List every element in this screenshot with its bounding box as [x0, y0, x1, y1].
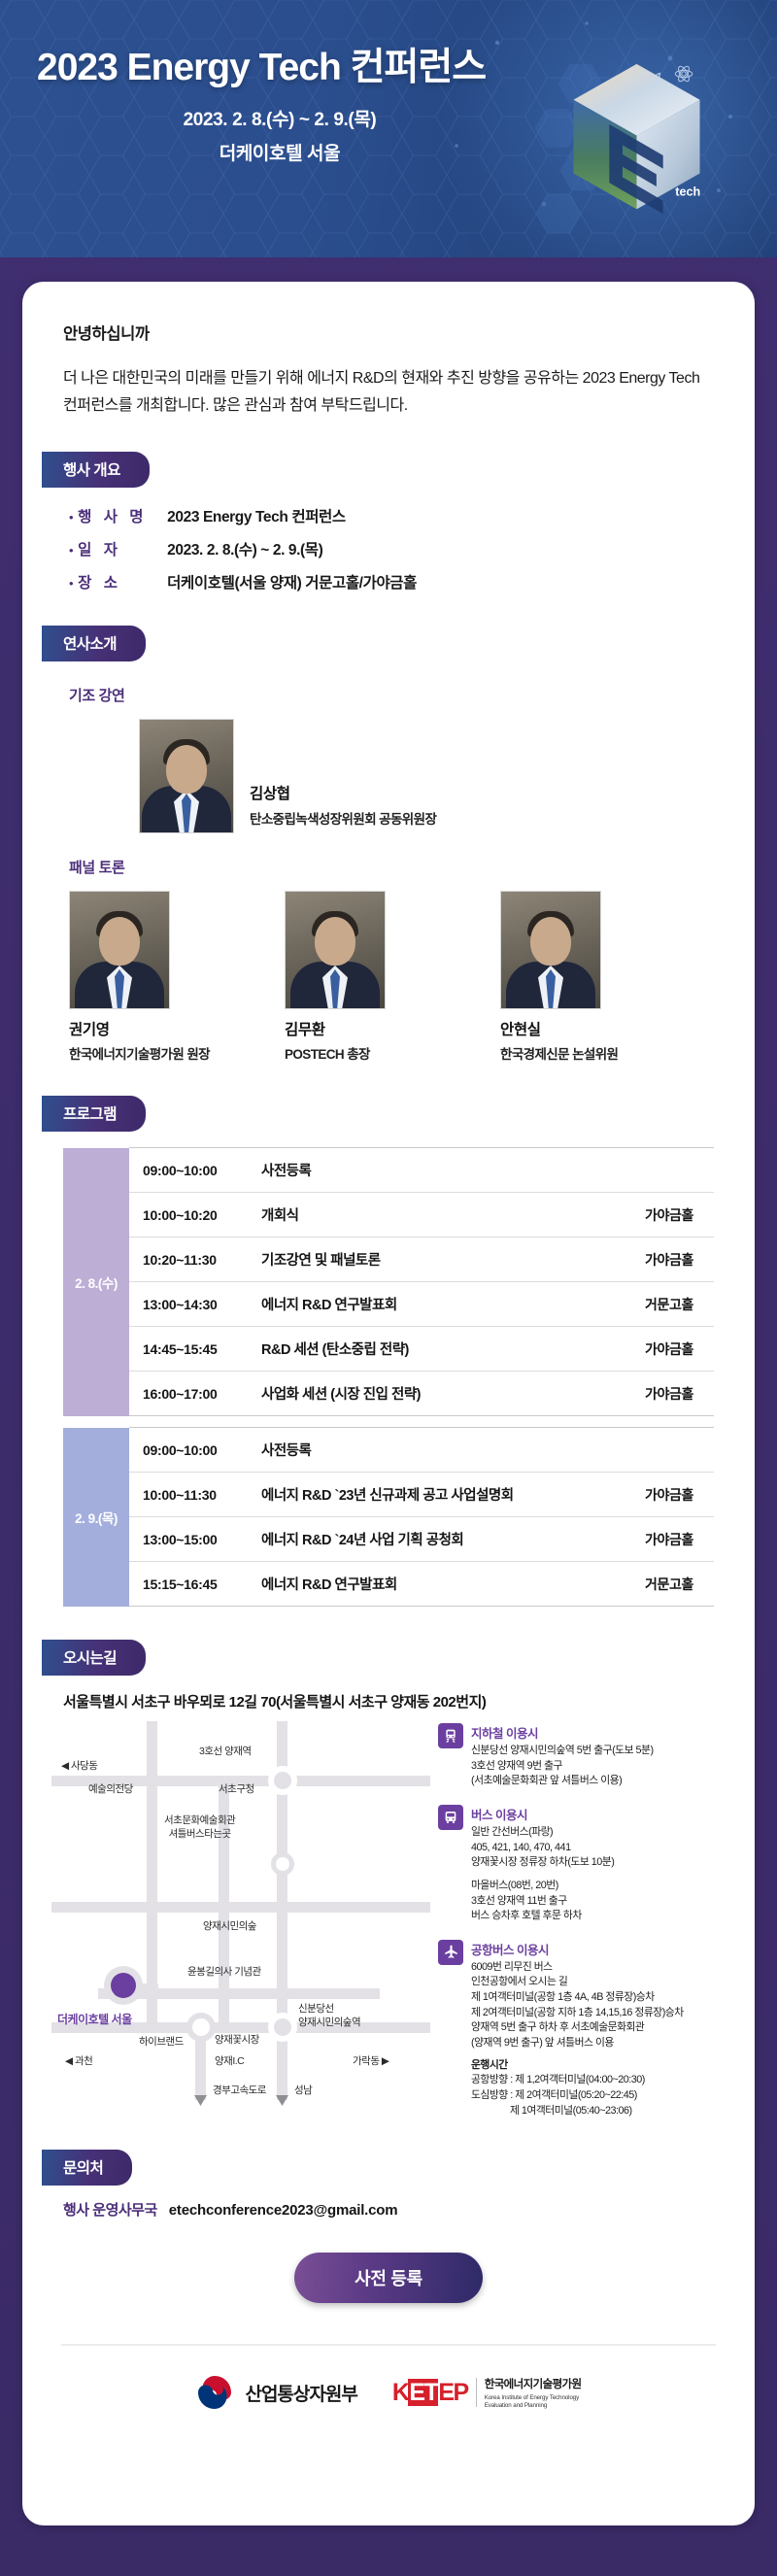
section-heading-program: 프로그램: [42, 1096, 146, 1132]
program-hall: 가야금홀: [625, 1193, 714, 1237]
bullet-icon: •: [69, 511, 73, 524]
program-title: 에너지 R&D `23년 신규과제 공고 사업설명회: [253, 1473, 625, 1517]
list-item: 권기영 한국에너지기술평가원 원장: [69, 891, 285, 1063]
program-hall: 가야금홀: [625, 1473, 714, 1517]
program-hall: 가야금홀: [625, 1517, 714, 1562]
register-section: 사전 등록: [22, 2253, 755, 2303]
section-heading-contact: 문의처: [42, 2150, 132, 2186]
intro-body: 더 나은 대한민국의 미래를 만들기 위해 에너지 R&D의 현재와 추진 방향…: [63, 365, 714, 419]
program-time: 09:00~10:00: [129, 1148, 253, 1193]
transit-line: 3호선 양재역 9번 출구: [471, 1759, 654, 1775]
table-row: 16:00~17:00 사업화 세션 (시장 진입 전략) 가야금홀: [63, 1372, 714, 1416]
transit-line: 버스 승차후 호텔 후문 하차: [471, 1909, 614, 1924]
program-time: 10:00~11:30: [129, 1473, 253, 1517]
speaker-role: POSTECH 총장: [285, 1043, 500, 1063]
transit-title: 공항버스 이용시: [471, 1940, 684, 1958]
overview-label: 장 소: [78, 571, 167, 593]
header-dates: 2023. 2. 8.(수) ~ 2. 9.(목): [37, 105, 523, 131]
program-day-label: 2. 9.(목): [63, 1428, 129, 1607]
transit-info: 지하철 이용시 신분당선 양재시민의숲역 5번 출구(도보 5분) 3호선 양재…: [438, 1721, 722, 2134]
table-row: 2. 8.(수) 09:00~10:00 사전등록: [63, 1148, 714, 1193]
transit-line: 양재꽃시장 정류장 하차(도보 10분): [471, 1855, 614, 1871]
map-node-yangjae-station: [268, 1766, 297, 1795]
program-hall: 가야금홀: [625, 1327, 714, 1372]
program-hall: [625, 1428, 714, 1473]
motie-logo: 산업통상자원부: [195, 2373, 356, 2412]
pre-register-button[interactable]: 사전 등록: [294, 2253, 483, 2303]
venue-address: 서울특별시 서초구 바우뫼로 12길 70(서울특별시 서초구 양재동 202번…: [22, 1676, 755, 1712]
overview-label: 일 자: [78, 538, 167, 559]
program-time: 16:00~17:00: [129, 1372, 253, 1416]
program-hall: 거문고홀: [625, 1562, 714, 1607]
contact-email[interactable]: etechconference2023@gmail.com: [169, 2202, 398, 2219]
transit-line: (양재역 9번 출구) 앞 셔틀버스 이용: [471, 2036, 684, 2051]
page-title: 2023 Energy Tech 컨퍼런스: [37, 37, 620, 91]
transit-title: 버스 이용시: [471, 1805, 614, 1823]
transit-line: 인천공항에서 오시는 길: [471, 1975, 684, 1990]
map-label-hotel: 더케이호텔 서울: [57, 2011, 132, 2027]
overview-label: 행 사 명: [78, 505, 167, 526]
subway-icon: [438, 1723, 463, 1748]
content-card: 안녕하십니까 더 나은 대한민국의 미래를 만들기 위해 에너지 R&D의 현재…: [22, 282, 755, 2525]
map-label-flower-market: 양재꽃시장: [215, 2032, 259, 2047]
divider: [476, 2378, 477, 2407]
map-label-seocho-office: 서초구청: [219, 1781, 254, 1796]
program-title: 사전등록: [253, 1148, 625, 1193]
map-label-highbrand: 하이브랜드: [139, 2034, 184, 2049]
program-title: 에너지 R&D `24년 사업 기획 공청회: [253, 1517, 625, 1562]
poster-frame: 2023 Energy Tech 컨퍼런스 2023. 2. 8.(수) ~ 2…: [0, 0, 777, 2576]
program-title: 사전등록: [253, 1428, 625, 1473]
avatar: [500, 891, 601, 1009]
arrow-down-icon: [193, 2094, 208, 2107]
program-hall: 가야금홀: [625, 1237, 714, 1282]
map-marker-hotel: [104, 1966, 143, 2005]
program-hall: [625, 1148, 714, 1193]
speaker-name: 안현실: [500, 1018, 716, 1039]
map-label-yangjae-station: 3호선 양재역: [199, 1744, 252, 1758]
program-section: 2. 8.(수) 09:00~10:00 사전등록 10:00~10:20 개회…: [63, 1132, 714, 1607]
map-label-yun-memorial: 윤봉길의사 기념관: [187, 1964, 261, 1979]
map-label-shinbundang-station: 신분당선양재시민의숲역: [298, 2003, 360, 2029]
intro-greeting: 안녕하십니까: [63, 321, 714, 344]
airplane-icon: [438, 1940, 463, 1965]
overview-list: • 행 사 명 2023 Energy Tech 컨퍼런스 • 일 자 2023…: [22, 488, 755, 593]
map-label-yangjae-ic: 양재I.C: [215, 2053, 244, 2068]
map-node-yangjae-ic: [186, 2013, 216, 2042]
schedule-title: 운행시간: [471, 2058, 684, 2074]
table-row: 14:45~15:45 R&D 세션 (탄소중립 전략) 가야금홀: [63, 1327, 714, 1372]
section-heading-speakers: 연사소개: [42, 626, 146, 661]
overview-row: • 행 사 명 2023 Energy Tech 컨퍼런스: [69, 505, 755, 526]
program-title: 에너지 R&D 연구발표회: [253, 1282, 625, 1327]
table-row: 2. 9.(목) 09:00~10:00 사전등록: [63, 1428, 714, 1473]
transit-subway: 지하철 이용시 신분당선 양재시민의숲역 5번 출구(도보 5분) 3호선 양재…: [438, 1723, 722, 1789]
transit-line: 3호선 양재역 11번 출구: [471, 1894, 614, 1910]
avatar: [285, 891, 386, 1009]
section-heading-directions: 오시는길: [42, 1640, 146, 1676]
table-row: 13:00~15:00 에너지 R&D `24년 사업 기획 공청회 가야금홀: [63, 1517, 714, 1562]
transit-line: 일반 간선버스(파랑): [471, 1825, 614, 1841]
ketep-logo: KETEP 한국에너지기술평가원 Korea Institute of Ener…: [392, 2375, 582, 2411]
program-day-label: 2. 8.(수): [63, 1148, 129, 1416]
motie-name: 산업통상자원부: [245, 2380, 356, 2406]
map-label-seocho-culture-center: 서초문화예술회관셔틀버스타는곳: [164, 1814, 235, 1841]
program-time: 09:00~10:00: [129, 1428, 253, 1473]
overview-value: 2023 Energy Tech 컨퍼런스: [167, 505, 346, 526]
speakers-section: 기조 강연 김상협 탄소중립녹색성장위원회 공동위원장 패널 토론: [22, 661, 755, 1063]
program-time: 14:45~15:45: [129, 1327, 253, 1372]
program-hall: 거문고홀: [625, 1282, 714, 1327]
contact-label: 행사 운영사무국: [63, 2199, 157, 2220]
list-item: 김무환 POSTECH 총장: [285, 891, 500, 1063]
overview-row: • 장 소 더케이호텔(서울 양재) 거문고홀/가야금홀: [69, 571, 755, 593]
contact-section: 행사 운영사무국 etechconference2023@gmail.com: [22, 2186, 755, 2220]
speaker-name: 권기영: [69, 1018, 285, 1039]
table-spacer: [63, 1416, 714, 1428]
panel-label: 패널 토론: [69, 857, 755, 877]
header-title-block: 2023 Energy Tech 컨퍼런스 2023. 2. 8.(수) ~ 2…: [37, 37, 620, 165]
map-label-seongnam: 성남: [294, 2083, 312, 2097]
speaker-name: 김무환: [285, 1018, 500, 1039]
program-time: 15:15~16:45: [129, 1562, 253, 1607]
overview-value: 더케이호텔(서울 양재) 거문고홀/가야금홀: [167, 571, 417, 593]
program-title: 에너지 R&D 연구발표회: [253, 1562, 625, 1607]
transit-line: 제 1여객터미널(공항 1층 4A, 4B 정류장)승차: [471, 1990, 684, 2006]
table-row: 10:20~11:30 기조강연 및 패널토론 가야금홀: [63, 1237, 714, 1282]
table-row: 10:00~10:20 개회식 가야금홀: [63, 1193, 714, 1237]
transit-line: 양재역 5번 출구 하차 후 서초예술문화회관: [471, 2020, 684, 2036]
transit-line: 405, 421, 140, 470, 441: [471, 1841, 614, 1856]
map-label-yangjae-forest: 양재시민의숲: [203, 1918, 256, 1933]
map-node-shuttle-stop: [271, 1852, 294, 1876]
overview-heading-row: 행사 개요: [22, 452, 755, 488]
speaker-name: 김상협: [250, 782, 436, 803]
logo-tech-text: tech: [675, 186, 700, 199]
transit-title: 지하철 이용시: [471, 1723, 654, 1742]
program-title: 사업화 세션 (시장 진입 전략): [253, 1372, 625, 1416]
map-node-shinbundang-station: [268, 2013, 297, 2042]
footer-divider: [61, 2344, 716, 2346]
header-venue: 더케이호텔 서울: [37, 139, 523, 165]
transit-airport-bus: 공항버스 이용시 6009번 리무진 버스 인천공항에서 오시는 길 제 1여객…: [438, 1940, 722, 2118]
program-title: 개회식: [253, 1193, 625, 1237]
section-heading-overview: 행사 개요: [42, 452, 150, 488]
taegeuk-icon: [195, 2373, 234, 2412]
transit-line: 6009번 리무진 버스: [471, 1960, 684, 1976]
ketep-name-ko: 한국에너지기술평가원: [485, 2379, 582, 2390]
map-label-gyeongbu-expressway: 경부고속도로: [213, 2083, 266, 2097]
avatar: [69, 891, 170, 1009]
speaker-role: 탄소중립녹색성장위원회 공동위원장: [250, 808, 436, 828]
ketep-name-en: Korea Institute of Energy TechnologyEval…: [485, 2394, 582, 2411]
speaker-role: 한국경제신문 논설위원: [500, 1043, 716, 1063]
directions-heading-row: 오시는길: [22, 1640, 755, 1676]
directions-body: ◀ 사당동 예술의전당 3호선 양재역 서초구청 서초문화예술회관셔틀버스타는곳…: [22, 1712, 755, 2134]
speaker-role: 한국에너지기술평가원 원장: [69, 1043, 285, 1063]
bullet-icon: •: [69, 544, 73, 557]
map-label-gwacheon: ◀ 과천: [65, 2053, 92, 2068]
transit-line: 마을버스(08번, 20번): [471, 1879, 614, 1894]
table-row: 13:00~14:30 에너지 R&D 연구발표회 거문고홀: [63, 1282, 714, 1327]
map-label-arts-center: 예술의전당: [88, 1781, 133, 1796]
keynote-speaker: 김상협 탄소중립녹색성장위원회 공동위원장: [139, 719, 755, 833]
program-time: 13:00~14:30: [129, 1282, 253, 1327]
contact-heading-row: 문의처: [22, 2150, 755, 2186]
map-label-sadang: ◀ 사당동: [61, 1758, 97, 1773]
poster-header: 2023 Energy Tech 컨퍼런스 2023. 2. 8.(수) ~ 2…: [0, 0, 777, 257]
energy-tech-cube-logo: tech: [557, 54, 717, 224]
keynote-label: 기조 강연: [69, 685, 755, 705]
schedule-line: 도심방향 : 제 2여객터미널(05:20~22:45): [471, 2088, 684, 2104]
avatar: [139, 719, 234, 833]
footer-logos: 산업통상자원부 KETEP 한국에너지기술평가원 Korea Institute…: [22, 2373, 755, 2412]
overview-value: 2023. 2. 8.(수) ~ 2. 9.(목): [167, 538, 322, 559]
table-row: 10:00~11:30 에너지 R&D `23년 신규과제 공고 사업설명회 가…: [63, 1473, 714, 1517]
program-time: 13:00~15:00: [129, 1517, 253, 1562]
table-row: 15:15~16:45 에너지 R&D 연구발표회 거문고홀: [63, 1562, 714, 1607]
program-heading-row: 프로그램: [22, 1096, 755, 1132]
list-item: 안현실 한국경제신문 논설위원: [500, 891, 716, 1063]
map-label-garak: 가락동 ▶: [353, 2053, 388, 2068]
intro-section: 안녕하십니까 더 나은 대한민국의 미래를 만들기 위해 에너지 R&D의 현재…: [22, 282, 755, 419]
program-time: 10:20~11:30: [129, 1237, 253, 1282]
program-title: 기조강연 및 패널토론: [253, 1237, 625, 1282]
program-time: 10:00~10:20: [129, 1193, 253, 1237]
program-title: R&D 세션 (탄소중립 전략): [253, 1327, 625, 1372]
schedule-line: 제 1여객터미널(05:40~23:06): [471, 2104, 684, 2119]
ketep-mark: KETEP: [392, 2379, 468, 2407]
transit-line: 신분당선 양재시민의숲역 5번 출구(도보 5분): [471, 1744, 654, 1759]
overview-row: • 일 자 2023. 2. 8.(수) ~ 2. 9.(목): [69, 538, 755, 559]
location-map: ◀ 사당동 예술의전당 3호선 양재역 서초구청 서초문화예술회관셔틀버스타는곳…: [51, 1721, 430, 2129]
transit-bus: 버스 이용시 일반 간선버스(파랑) 405, 421, 140, 470, 4…: [438, 1805, 722, 1924]
panel-speakers: 권기영 한국에너지기술평가원 원장 김무환 POSTECH 총장: [69, 891, 755, 1063]
speakers-heading-row: 연사소개: [22, 626, 755, 661]
bullet-icon: •: [69, 577, 73, 590]
program-hall: 가야금홀: [625, 1372, 714, 1416]
arrow-down-icon: [275, 2094, 289, 2107]
transit-line: (서초예술문화회관 앞 셔틀버스 이용): [471, 1774, 654, 1789]
bus-icon: [438, 1805, 463, 1830]
schedule-line: 공항방향 : 제 1,2여객터미널(04:00~20:30): [471, 2073, 684, 2088]
program-table: 2. 8.(수) 09:00~10:00 사전등록 10:00~10:20 개회…: [63, 1147, 714, 1607]
transit-line: 제 2여객터미널(공항 지하 1층 14,15,16 정류장)승차: [471, 2006, 684, 2021]
